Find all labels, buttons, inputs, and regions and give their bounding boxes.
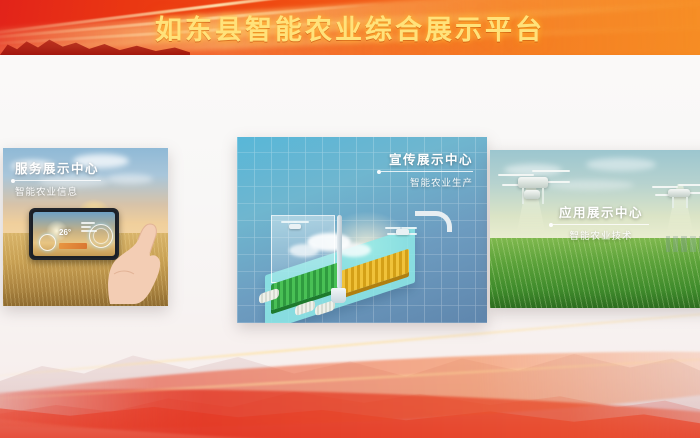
hand-illustration <box>104 218 162 304</box>
card-app-text-block: 应用展示中心 智能农业技术 <box>490 202 700 242</box>
drone-body <box>518 177 548 188</box>
drone-rotor <box>498 174 534 176</box>
water-bucket <box>331 288 346 303</box>
card-service-divider <box>15 180 101 181</box>
hud-ring-left <box>39 234 56 251</box>
card-promo-title: 宣传展示中心 <box>381 149 473 168</box>
drone-tank <box>524 190 540 199</box>
card-service-title: 服务展示中心 <box>15 158 101 177</box>
drone-body <box>396 229 409 235</box>
screen-data-chip <box>59 243 87 249</box>
lamp-arm <box>415 211 452 232</box>
drone-body <box>668 189 690 197</box>
cloud-shape <box>586 158 656 171</box>
drone-body <box>289 224 301 229</box>
drone-rotor <box>532 170 570 172</box>
card-promotion-display-center[interactable]: 宣传展示中心 智能农业生产 <box>237 137 487 323</box>
page-root: 如东县智能农业综合展示平台 26° <box>0 0 700 438</box>
card-promo-text-block: 宣传展示中心 智能农业生产 <box>381 149 473 189</box>
card-promo-divider <box>381 171 473 172</box>
lamp-post <box>337 215 342 289</box>
header-banner: 如东县智能农业综合展示平台 <box>0 0 700 55</box>
cloud-shape <box>107 174 153 184</box>
card-promo-subtitle: 智能农业生产 <box>381 175 473 189</box>
card-application-display-center[interactable]: 应用展示中心 智能农业技术 <box>490 150 700 308</box>
cloud-shape <box>337 243 371 257</box>
drone-rotor <box>293 221 309 223</box>
page-title: 如东县智能农业综合展示平台 <box>0 0 700 55</box>
card-service-display-center[interactable]: 26° 服务展示中心 智能农业信息 <box>3 148 168 306</box>
card-app-divider <box>553 224 649 225</box>
screen-temperature-value: 26° <box>59 228 71 237</box>
hud-bar <box>81 226 91 228</box>
drone-rotor <box>652 186 678 188</box>
drone-icon <box>281 219 309 231</box>
cloud-shape <box>289 244 319 257</box>
phone-screen: 26° <box>33 212 115 256</box>
card-service-text-block: 服务展示中心 智能农业信息 <box>15 158 101 198</box>
card-app-title: 应用展示中心 <box>490 202 700 221</box>
card-app-subtitle: 智能农业技术 <box>490 228 700 242</box>
hud-bar <box>81 222 95 224</box>
drone-icon <box>385 225 419 239</box>
drone-rotor <box>678 184 700 186</box>
card-service-subtitle: 智能农业信息 <box>15 184 101 198</box>
